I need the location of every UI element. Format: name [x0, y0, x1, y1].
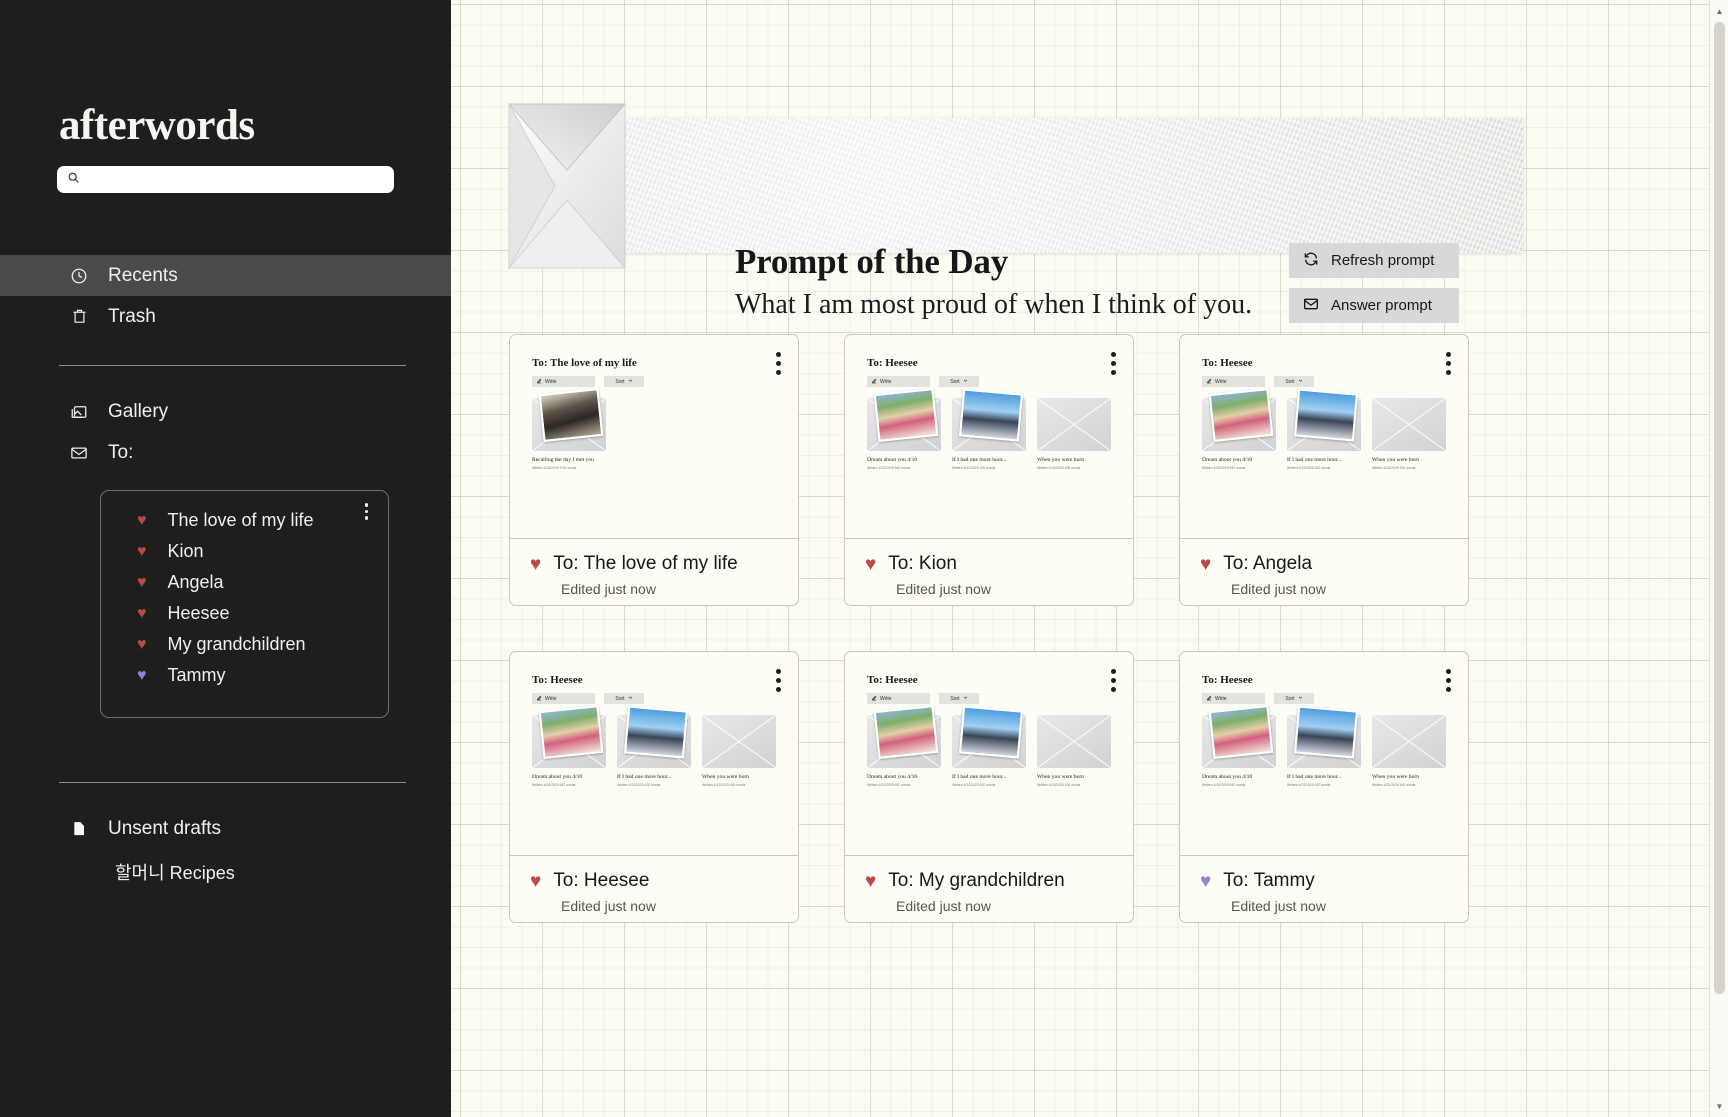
write-label: Write: [880, 379, 892, 385]
write-label: Write: [1215, 379, 1227, 385]
recipient-label: Tammy: [168, 665, 226, 686]
tile-caption: Dream about you 4/10: [1202, 457, 1276, 464]
recipients-panel: ♥The love of my life♥Kion♥Angela♥Heesee♥…: [100, 490, 389, 718]
sidebar-item-gallery-label: Gallery: [108, 401, 168, 423]
envelope-thumbnail-icon: [952, 715, 1026, 768]
card-title: To: Heesee: [553, 870, 649, 892]
write-button[interactable]: Write: [532, 693, 595, 704]
recipient-label: The love of my life: [168, 510, 314, 531]
tile-row: Dream about you 4/10Written 4/10/2025 64…: [867, 715, 1111, 787]
tile-row: Dream about you 4/10Written 4/10/2025 64…: [1202, 398, 1446, 470]
sidebar-item-unsent-drafts[interactable]: Unsent drafts: [0, 808, 451, 849]
photo-thumbnail: [959, 388, 1023, 441]
card-menu-button[interactable]: [776, 352, 781, 375]
sort-button[interactable]: Sort: [604, 376, 644, 387]
banner-actions: Refresh prompt Answer prompt: [1289, 243, 1459, 323]
envelope-thumbnail-icon: [1037, 398, 1111, 451]
letter-card[interactable]: To: HeeseeWriteSortDream about you 4/10W…: [844, 334, 1134, 606]
card-menu-button[interactable]: [1446, 669, 1451, 692]
banner-subtitle: What I am most proud of when I think of …: [735, 289, 1252, 321]
sidebar-item-recents-label: Recents: [108, 265, 178, 287]
letter-card[interactable]: To: HeeseeWriteSortDream about you 4/10W…: [509, 651, 799, 923]
search-input[interactable]: [87, 172, 384, 187]
compose-icon: [536, 378, 542, 386]
envelope-thumbnail-icon: [532, 398, 606, 451]
photo-thumbnail: [539, 705, 604, 759]
recipient-item[interactable]: ♥Kion: [101, 536, 388, 567]
sidebar-item-draft-recipes[interactable]: 할머니 Recipes: [0, 859, 451, 885]
sort-label: Sort: [1285, 379, 1294, 385]
letter-tile[interactable]: Dream about you 4/10Written 4/10/2025 64…: [1202, 398, 1276, 470]
card-title: To: Angela: [1223, 553, 1312, 575]
compose-icon: [536, 695, 542, 703]
card-edited-timestamp: Edited just now: [561, 898, 798, 914]
letter-tile[interactable]: When you were bornWritten 4/12/2025 430 …: [1372, 398, 1446, 470]
sort-label: Sort: [950, 379, 959, 385]
preview-toolbar: WriteSort: [867, 376, 1111, 387]
chevron-down-icon: [1298, 378, 1303, 385]
compose-icon: [1206, 378, 1212, 386]
main-content: Prompt of the Day What I am most proud o…: [451, 0, 1728, 1117]
card-footer: ♥To: My grandchildrenEdited just now: [845, 855, 1133, 922]
search-box[interactable]: [57, 166, 394, 193]
preview-toolbar: WriteSort: [532, 693, 776, 704]
card-title: To: Kion: [888, 553, 957, 575]
sidebar-divider-1: [59, 365, 406, 366]
sort-button[interactable]: Sort: [939, 376, 979, 387]
tile-meta: Written 4/10/2025 642 words: [867, 783, 941, 787]
prompt-banner: Prompt of the Day What I am most proud o…: [507, 96, 1523, 274]
drafts-nav: Unsent drafts 할머니 Recipes: [0, 808, 451, 885]
card-preview: To: The love of my lifeWriteSortRecallin…: [510, 335, 798, 538]
tile-caption: When you were born: [702, 774, 776, 781]
tile-caption: When you were born: [1037, 457, 1111, 464]
photo-thumbnail: [539, 388, 604, 442]
envelope-thumbnail-icon: [1287, 398, 1361, 451]
preview-title: To: The love of my life: [532, 357, 776, 369]
envelope-thumbnail-icon: [1372, 715, 1446, 768]
sort-label: Sort: [615, 379, 624, 385]
card-footer: ♥To: HeeseeEdited just now: [510, 855, 798, 922]
sort-button[interactable]: Sort: [1274, 376, 1314, 387]
preview-title: To: Heesee: [867, 357, 1111, 369]
refresh-prompt-button[interactable]: Refresh prompt: [1289, 243, 1459, 278]
letter-tile[interactable]: When you were bornWritten 4/12/2025 430 …: [702, 715, 776, 787]
trash-icon: [70, 308, 88, 326]
tile-meta: Written 4/10/2025 642 words: [867, 466, 941, 470]
envelope-thumbnail-icon: [702, 715, 776, 768]
tile-meta: Written 4/12/2025 430 words: [1037, 466, 1111, 470]
answer-prompt-label: Answer prompt: [1331, 297, 1432, 314]
letter-tile[interactable]: When you were bornWritten 4/12/2025 430 …: [1037, 715, 1111, 787]
card-title: To: My grandchildren: [888, 870, 1064, 892]
photo-thumbnail: [1209, 388, 1274, 442]
scroll-up-arrow[interactable]: ▲: [1710, 2, 1728, 20]
answer-prompt-button[interactable]: Answer prompt: [1289, 288, 1459, 323]
card-title: To: The love of my life: [553, 553, 737, 575]
card-edited-timestamp: Edited just now: [561, 581, 798, 597]
sidebar-item-recents[interactable]: Recents: [0, 255, 451, 296]
app-logo: afterwords: [0, 0, 451, 147]
chevron-down-icon: [963, 695, 968, 702]
tile-meta: Written 4/10/2025 642 words: [532, 783, 606, 787]
preview-title: To: Heesee: [532, 674, 776, 686]
recipient-label: Kion: [168, 541, 204, 562]
card-edited-timestamp: Edited just now: [896, 581, 1133, 597]
preview-toolbar: WriteSort: [867, 693, 1111, 704]
envelope-thumbnail-icon: [1372, 398, 1446, 451]
tile-caption: When you were born: [1037, 774, 1111, 781]
tile-caption: When you were born: [1372, 774, 1446, 781]
sidebar-item-to-label: To:: [108, 442, 133, 464]
tile-caption: If I had one more hour...: [952, 774, 1026, 781]
search-icon: [67, 171, 80, 189]
letter-tile[interactable]: If I had one more hour...Written 4/12/20…: [952, 715, 1026, 787]
card-menu-button[interactable]: [1111, 352, 1116, 375]
banner-title: Prompt of the Day: [735, 242, 1008, 282]
compose-icon: [871, 695, 877, 703]
envelope-thumbnail-icon: [867, 398, 941, 451]
tile-row: Dream about you 4/10Written 4/10/2025 64…: [1202, 715, 1446, 787]
envelope-icon: [1303, 296, 1319, 316]
preview-toolbar: WriteSort: [532, 376, 776, 387]
photo-thumbnail: [1294, 388, 1358, 441]
card-edited-timestamp: Edited just now: [1231, 581, 1468, 597]
tile-row: Dream about you 4/10Written 4/10/2025 64…: [532, 715, 776, 787]
envelope-thumbnail-icon: [617, 715, 691, 768]
chevron-down-icon: [628, 378, 633, 385]
letter-tile[interactable]: If I had one more hour...Written 4/12/20…: [1287, 398, 1361, 470]
heart-icon: ♥: [1200, 555, 1211, 574]
preview-title: To: Heesee: [867, 674, 1111, 686]
letter-card[interactable]: To: HeeseeWriteSortDream about you 4/10W…: [1179, 651, 1469, 923]
letter-card[interactable]: To: HeeseeWriteSortDream about you 4/10W…: [844, 651, 1134, 923]
recipient-item[interactable]: ♥Heesee: [101, 598, 388, 629]
letter-tile[interactable]: When you were bornWritten 4/12/2025 430 …: [1372, 715, 1446, 787]
letter-card[interactable]: To: HeeseeWriteSortDream about you 4/10W…: [1179, 334, 1469, 606]
tile-caption: Dream about you 4/10: [867, 457, 941, 464]
letter-tile[interactable]: If I had one more hour...Written 4/12/20…: [952, 398, 1026, 470]
tile-row: Dream about you 4/10Written 4/10/2025 64…: [867, 398, 1111, 470]
tile-meta: Written 4/12/2025 430 words: [1372, 783, 1446, 787]
card-preview: To: HeeseeWriteSortDream about you 4/10W…: [510, 652, 798, 855]
sidebar-item-unsent-drafts-label: Unsent drafts: [108, 818, 221, 840]
tile-caption: If I had one more hour...: [617, 774, 691, 781]
chevron-down-icon: [963, 378, 968, 385]
tile-caption: Dream about you 4/10: [1202, 774, 1276, 781]
heart-icon: ♥: [865, 555, 876, 574]
envelope-thumbnail-icon: [1202, 398, 1276, 451]
banner-paper: [587, 118, 1523, 253]
envelope-flap-icon: [507, 96, 627, 274]
document-icon: [70, 820, 88, 838]
card-title: To: Tammy: [1223, 870, 1315, 892]
write-button[interactable]: Write: [1202, 376, 1265, 387]
heart-icon: ♥: [865, 872, 876, 891]
card-footer: ♥To: AngelaEdited just now: [1180, 538, 1468, 605]
preview-toolbar: WriteSort: [1202, 693, 1446, 704]
tile-meta: Written 4/12/2025 430 words: [1037, 783, 1111, 787]
card-preview: To: HeeseeWriteSortDream about you 4/10W…: [1180, 652, 1468, 855]
tile-meta: Written 4/12/2025 430 words: [1372, 466, 1446, 470]
secondary-nav: Gallery To:: [0, 391, 451, 473]
card-preview: To: HeeseeWriteSortDream about you 4/10W…: [1180, 335, 1468, 538]
heart-icon: ♥: [137, 668, 147, 684]
card-menu-button[interactable]: [1111, 669, 1116, 692]
sort-button[interactable]: Sort: [604, 693, 644, 704]
recipient-list: ♥The love of my life♥Kion♥Angela♥Heesee♥…: [101, 505, 388, 691]
refresh-icon: [1303, 251, 1319, 271]
tile-meta: Written 4/12/2025 420 words: [952, 466, 1026, 470]
heart-icon: ♥: [137, 513, 147, 529]
sidebar-item-trash[interactable]: Trash: [0, 296, 451, 337]
envelope-thumbnail-icon: [1287, 715, 1361, 768]
card-edited-timestamp: Edited just now: [1231, 898, 1468, 914]
photo-thumbnail: [1294, 705, 1358, 758]
recipient-item[interactable]: ♥Angela: [101, 567, 388, 598]
card-footer: ♥To: KionEdited just now: [845, 538, 1133, 605]
heart-icon: ♥: [137, 637, 147, 653]
card-menu-button[interactable]: [776, 669, 781, 692]
letter-tile[interactable]: Recalling the day I met youWritten 4/10/…: [532, 398, 606, 470]
heart-icon: ♥: [137, 544, 147, 560]
tile-caption: Dream about you 4/10: [867, 774, 941, 781]
letter-card[interactable]: To: The love of my lifeWriteSortRecallin…: [509, 334, 799, 606]
sort-label: Sort: [950, 696, 959, 702]
letter-tile[interactable]: If I had one more hour...Written 4/12/20…: [1287, 715, 1361, 787]
photo-thumbnail: [874, 388, 939, 442]
envelope-thumbnail-icon: [867, 715, 941, 768]
primary-nav: Recents Trash: [0, 255, 451, 337]
envelope-thumbnail-icon: [1037, 715, 1111, 768]
write-button[interactable]: Write: [867, 376, 930, 387]
tile-meta: Written 4/12/2025 420 words: [952, 783, 1026, 787]
letter-tile[interactable]: Dream about you 4/10Written 4/10/2025 64…: [867, 398, 941, 470]
card-preview: To: HeeseeWriteSortDream about you 4/10W…: [845, 335, 1133, 538]
tile-meta: Written 4/10/2025 642 words: [1202, 783, 1276, 787]
tile-meta: Written 4/12/2025 420 words: [1287, 783, 1361, 787]
heart-icon: ♥: [1200, 872, 1211, 891]
sort-label: Sort: [1285, 696, 1294, 702]
tile-meta: Written 4/10/2025 9:05 words: [532, 466, 606, 470]
recipient-label: Heesee: [168, 603, 230, 624]
sidebar: afterwords Recents: [0, 0, 451, 1117]
write-button[interactable]: Write: [867, 693, 930, 704]
tile-caption: If I had one more hour...: [1287, 774, 1361, 781]
letter-tile[interactable]: If I had one more hour...Written 4/12/20…: [617, 715, 691, 787]
envelope-thumbnail-icon: [1202, 715, 1276, 768]
heart-icon: ♥: [530, 555, 541, 574]
compose-icon: [871, 378, 877, 386]
card-footer: ♥To: The love of my lifeEdited just now: [510, 538, 798, 605]
search-container: [0, 147, 451, 193]
tile-meta: Written 4/10/2025 642 words: [1202, 466, 1276, 470]
heart-icon: ♥: [137, 575, 147, 591]
tile-meta: Written 4/12/2025 420 words: [617, 783, 691, 787]
write-label: Write: [880, 696, 892, 702]
gallery-icon: [70, 403, 88, 421]
recipient-item[interactable]: ♥Tammy: [101, 660, 388, 691]
write-button[interactable]: Write: [532, 376, 595, 387]
tile-meta: Written 4/12/2025 430 words: [702, 783, 776, 787]
envelope-icon: [70, 444, 88, 462]
write-button[interactable]: Write: [1202, 693, 1265, 704]
card-footer: ♥To: TammyEdited just now: [1180, 855, 1468, 922]
clock-icon: [70, 267, 88, 285]
card-menu-button[interactable]: [1446, 352, 1451, 375]
write-label: Write: [545, 696, 557, 702]
sort-button[interactable]: Sort: [939, 693, 979, 704]
letter-tile[interactable]: Dream about you 4/10Written 4/10/2025 64…: [1202, 715, 1276, 787]
envelope-thumbnail-icon: [532, 715, 606, 768]
letter-tile[interactable]: When you were bornWritten 4/12/2025 430 …: [1037, 398, 1111, 470]
sidebar-item-gallery[interactable]: Gallery: [0, 391, 451, 432]
recipient-label: Angela: [168, 572, 224, 593]
refresh-prompt-label: Refresh prompt: [1331, 252, 1434, 269]
preview-toolbar: WriteSort: [1202, 376, 1446, 387]
scrollbar-thumb[interactable]: [1714, 22, 1725, 994]
recipient-label: My grandchildren: [168, 634, 306, 655]
letter-tile[interactable]: Dream about you 4/10Written 4/10/2025 64…: [867, 715, 941, 787]
sidebar-item-to[interactable]: To:: [0, 432, 451, 473]
tile-caption: If I had one more hour...: [1287, 457, 1361, 464]
tile-caption: Recalling the day I met you: [532, 457, 606, 464]
write-label: Write: [545, 379, 557, 385]
chevron-down-icon: [1298, 695, 1303, 702]
photo-thumbnail: [624, 705, 688, 758]
tile-caption: If I had one more hour...: [952, 457, 1026, 464]
heart-icon: ♥: [137, 606, 147, 622]
card-grid: To: The love of my lifeWriteSortRecallin…: [509, 334, 1469, 923]
vertical-scrollbar[interactable]: ▲ ▼: [1709, 0, 1728, 1117]
tile-caption: Dream about you 4/10: [532, 774, 606, 781]
chevron-down-icon: [628, 695, 633, 702]
recipients-menu-button[interactable]: [365, 503, 369, 520]
tile-meta: Written 4/12/2025 420 words: [1287, 466, 1361, 470]
recipient-item[interactable]: ♥My grandchildren: [101, 629, 388, 660]
photo-thumbnail: [874, 705, 939, 759]
heart-icon: ♥: [530, 872, 541, 891]
recipient-item[interactable]: ♥The love of my life: [101, 505, 388, 536]
write-label: Write: [1215, 696, 1227, 702]
envelope-thumbnail-icon: [952, 398, 1026, 451]
photo-thumbnail: [1209, 705, 1274, 759]
compose-icon: [1206, 695, 1212, 703]
tile-caption: When you were born: [1372, 457, 1446, 464]
letter-tile[interactable]: Dream about you 4/10Written 4/10/2025 64…: [532, 715, 606, 787]
photo-thumbnail: [959, 705, 1023, 758]
sidebar-divider-2: [59, 782, 406, 783]
preview-title: To: Heesee: [1202, 674, 1446, 686]
sort-button[interactable]: Sort: [1274, 693, 1314, 704]
sidebar-item-trash-label: Trash: [108, 306, 156, 328]
card-preview: To: HeeseeWriteSortDream about you 4/10W…: [845, 652, 1133, 855]
sort-label: Sort: [615, 696, 624, 702]
tile-row: Recalling the day I met youWritten 4/10/…: [532, 398, 776, 470]
scroll-down-arrow[interactable]: ▼: [1710, 1097, 1728, 1115]
preview-title: To: Heesee: [1202, 357, 1446, 369]
card-edited-timestamp: Edited just now: [896, 898, 1133, 914]
